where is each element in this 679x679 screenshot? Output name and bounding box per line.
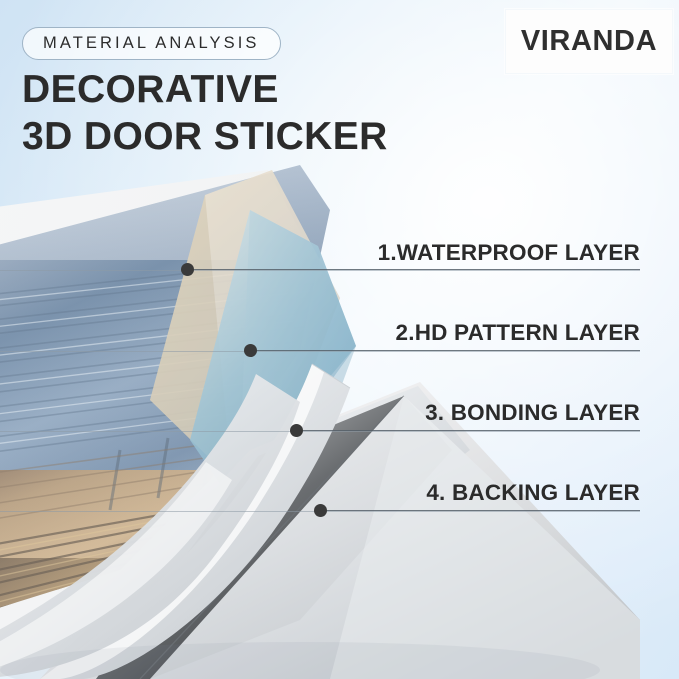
callout-dot-1 <box>181 263 194 276</box>
callout-label-3: 3. BONDING LAYER <box>425 400 640 426</box>
callout-dot-3 <box>290 424 303 437</box>
brand-logo: VIRANDA <box>505 9 673 74</box>
leader-line-4 <box>326 510 640 511</box>
callout-dot-4 <box>314 504 327 517</box>
callout-dot-2 <box>244 344 257 357</box>
callout-label-4: 4. BACKING LAYER <box>426 480 640 506</box>
callout-rule-2 <box>0 351 640 352</box>
callout-text-3: 3. BONDING LAYER <box>425 400 640 426</box>
leader-line-3 <box>302 430 640 431</box>
title-line-2: 3D DOOR STICKER <box>22 113 542 160</box>
callout-text-4: 4. BACKING LAYER <box>426 480 640 506</box>
callout-label-1: 1.WATERPROOF LAYER <box>378 240 640 266</box>
eyebrow-label: MATERIAL ANALYSIS <box>43 34 260 53</box>
callout-text-2: 2.HD PATTERN LAYER <box>396 320 640 346</box>
callout-rule-1 <box>0 270 640 271</box>
brand-name: VIRANDA <box>521 25 657 58</box>
leader-line-2 <box>256 350 640 351</box>
callout-label-2: 2.HD PATTERN LAYER <box>396 320 640 346</box>
callout-text-1: 1.WATERPROOF LAYER <box>378 240 640 266</box>
eyebrow-badge: MATERIAL ANALYSIS <box>22 27 281 60</box>
callout-rule-3 <box>0 431 640 432</box>
title-line-1: DECORATIVE <box>22 68 279 111</box>
poster-canvas: 1.WATERPROOF LAYER 2.HD PATTERN LAYER 3.… <box>0 0 679 679</box>
page-title: DECORATIVE 3D DOOR STICKER <box>22 66 542 160</box>
leader-line-1 <box>193 269 640 270</box>
